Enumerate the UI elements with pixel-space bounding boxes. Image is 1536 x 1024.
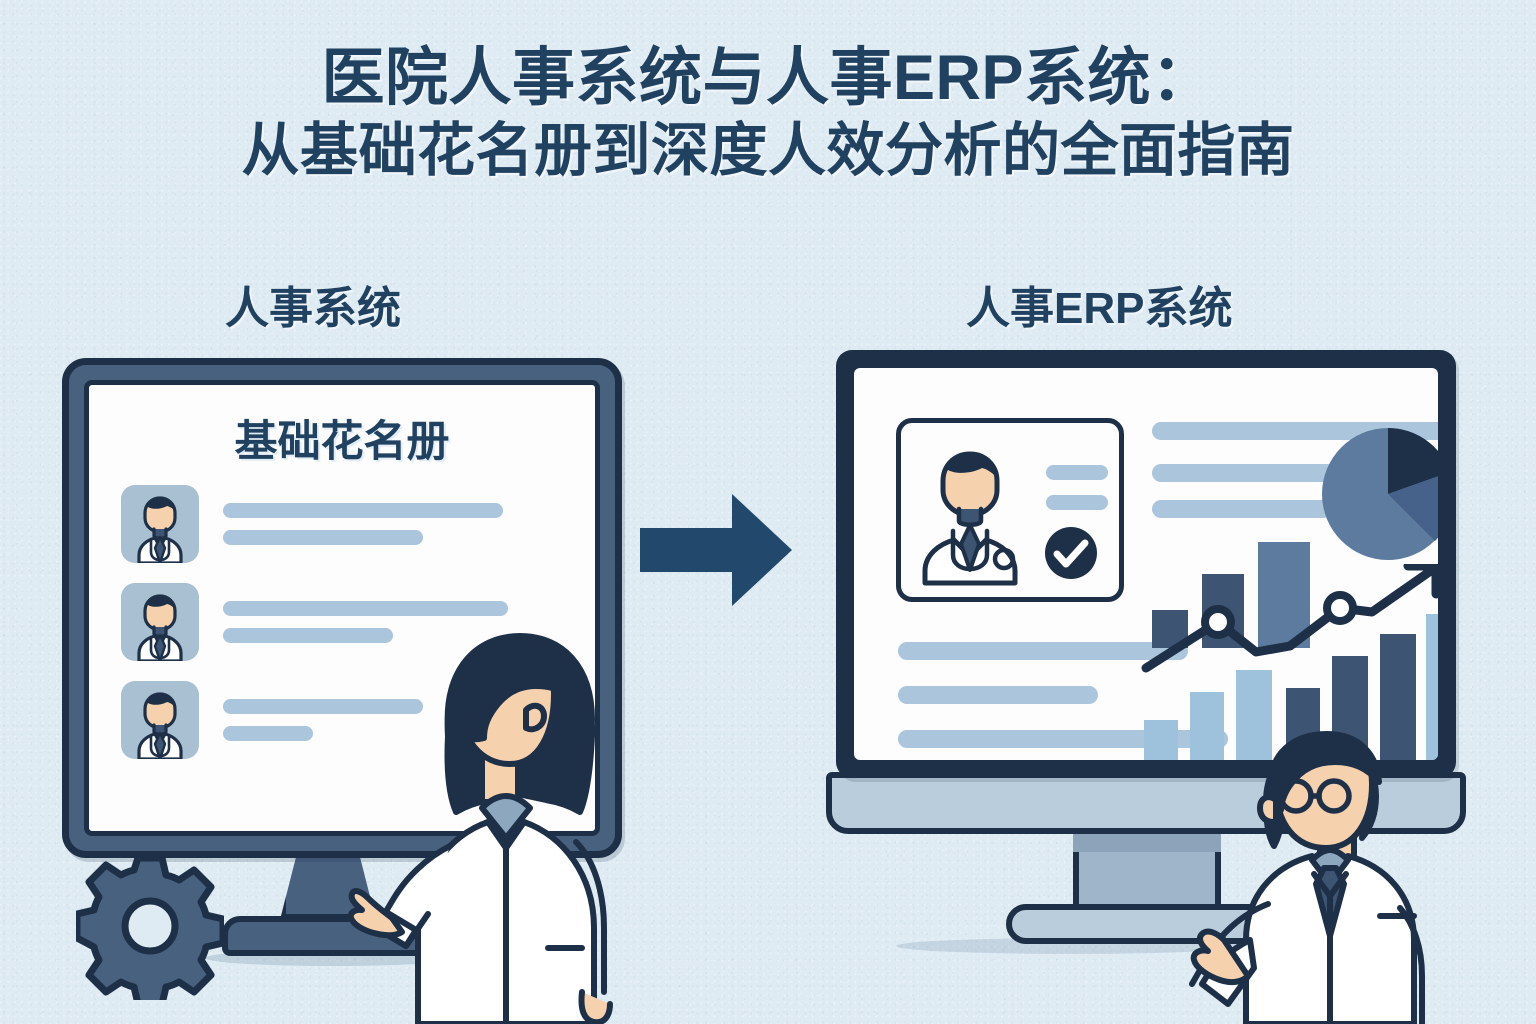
roster-detail-lines — [223, 503, 503, 545]
left-section-caption: 人事系统 — [225, 272, 401, 336]
employee-id-card[interactable] — [896, 418, 1124, 602]
infographic-canvas: 医院人事系统与人事ERP系统： 从基础花名册到深度人效分析的全面指南 人事系统 … — [0, 0, 1536, 1024]
placeholder-line — [223, 530, 423, 545]
right-arrow-icon — [636, 492, 796, 608]
title-line-1: 医院人事系统与人事ERP系统： — [0, 44, 1536, 112]
doctor-avatar-icon — [121, 485, 199, 563]
placeholder-line — [1046, 495, 1108, 510]
placeholder-line — [1152, 500, 1332, 518]
placeholder-line — [223, 503, 503, 518]
placeholder-line — [898, 686, 1098, 704]
female-doctor-figure — [330, 618, 670, 1024]
list-item[interactable] — [121, 485, 595, 563]
gear-icon — [76, 852, 224, 1000]
right-monitor-screen — [854, 368, 1438, 760]
doctor-avatar-icon — [121, 583, 199, 661]
composition-pie-chart — [1320, 426, 1438, 562]
placeholder-line — [223, 726, 313, 741]
roster-screen-title: 基础花名册 — [89, 407, 595, 469]
male-doctor-figure — [1128, 718, 1528, 1024]
line-marker — [1205, 609, 1231, 635]
line-marker — [1327, 595, 1353, 621]
right-section-caption: 人事ERP系统 — [966, 272, 1232, 336]
check-circle-icon — [1043, 525, 1099, 581]
placeholder-line — [1046, 465, 1108, 480]
right-monitor — [836, 350, 1456, 778]
title-line-2: 从基础花名册到深度人效分析的全面指南 — [0, 120, 1536, 183]
erp-dashboard — [854, 368, 1438, 760]
placeholder-line — [223, 601, 508, 616]
doctor-avatar-icon — [121, 681, 199, 759]
page-title: 医院人事系统与人事ERP系统： 从基础花名册到深度人效分析的全面指南 — [0, 44, 1536, 183]
